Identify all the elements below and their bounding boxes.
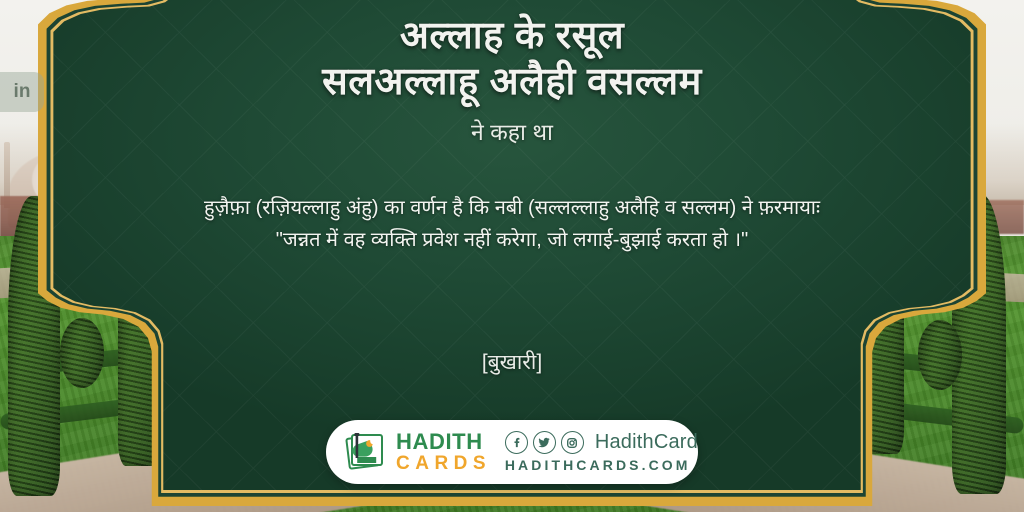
hadith-source: [बुखारी]: [0, 348, 1024, 376]
brand-handle: HadithCard: [595, 431, 698, 454]
brand-logo[interactable]: HADITH CARDS: [326, 431, 491, 473]
social-row: HadithCard: [505, 431, 698, 454]
mosque-logo-icon: [343, 431, 389, 473]
brand-wordmark: HADITH CARDS: [396, 431, 491, 473]
brand-wordmark-top: HADITH: [396, 431, 491, 453]
title-line-1: अल्लाह के रसूल: [0, 16, 1024, 56]
facebook-icon[interactable]: [505, 431, 528, 454]
hadith-card: अल्लाह के रसूल सलअल्लाहू अलैही वसल्लम ने…: [0, 0, 1024, 512]
title-line-2: सलअल्लाहू अलैही वसल्लम: [0, 62, 1024, 102]
title-subtitle: ने कहा था: [0, 115, 1024, 147]
linkedin-badge[interactable]: in: [0, 72, 44, 112]
brand-social-block: HadithCard HADITHCARDS.COM: [505, 431, 698, 473]
twitter-icon[interactable]: [533, 431, 556, 454]
instagram-icon[interactable]: [561, 431, 584, 454]
footer-bar: HADITH CARDS HadithCard HADITHCARDS.COM: [326, 420, 698, 484]
title-block: अल्लाह के रसूल सलअल्लाहू अलैही वसल्लम ने…: [0, 16, 1024, 147]
website-url[interactable]: HADITHCARDS.COM: [505, 457, 698, 473]
hadith-text: हुज़ैफ़ा (रज़ियल्लाहु अंहु) का वर्णन है …: [187, 192, 837, 257]
brand-wordmark-bottom: CARDS: [396, 454, 491, 473]
